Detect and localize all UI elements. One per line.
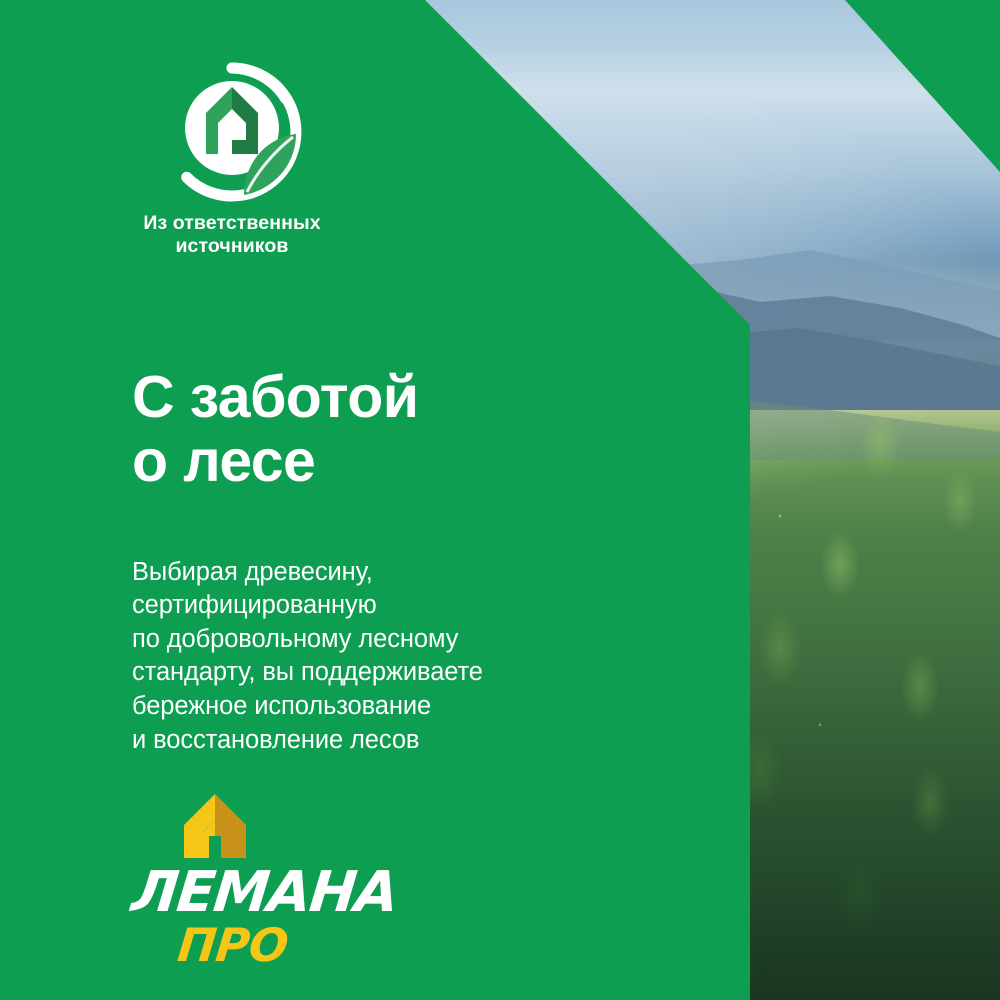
body-paragraph: Выбирая древесину, сертифицированную по … [132,556,692,758]
lemana-house-icon [178,792,252,860]
page-title: С заботой о лесе [132,365,652,495]
poster-root: Из ответственных источников С заботой о … [0,0,1000,1000]
poster-content: Из ответственных источников С заботой о … [0,0,1000,1000]
brand-name: ЛЕМАНА [129,866,395,920]
house-leaf-circle-icon [162,62,302,202]
certification-badge: Из ответственных источников [132,62,332,258]
certification-caption: Из ответственных источников [132,212,332,258]
brand-lockup: ЛЕМАНА ПРО [132,792,392,968]
brand-subname: ПРО [176,922,395,968]
